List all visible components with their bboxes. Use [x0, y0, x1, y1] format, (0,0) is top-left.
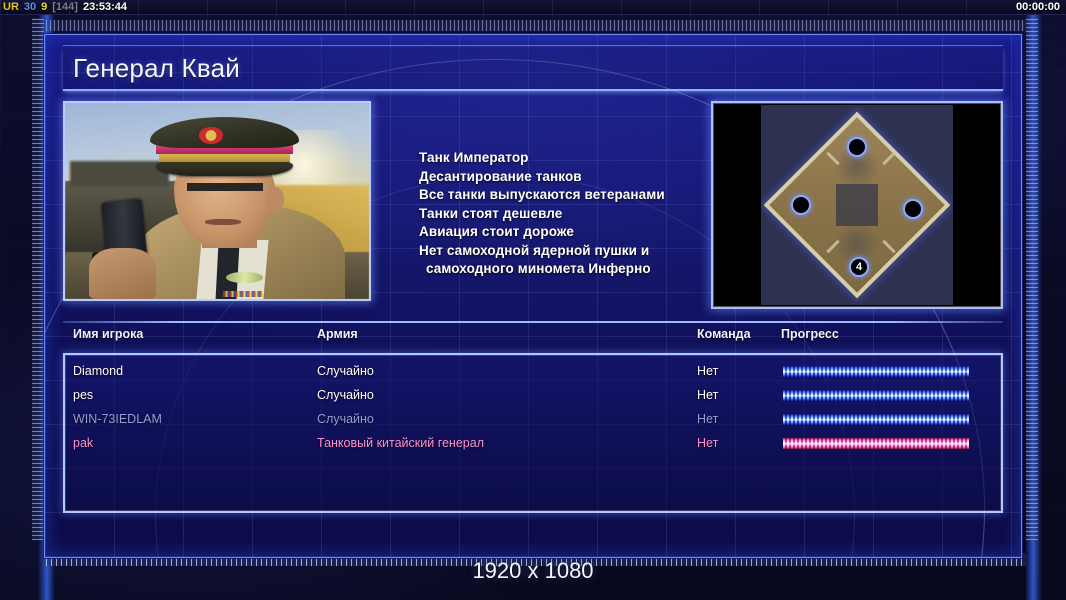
ur-label: UR	[3, 2, 19, 13]
player-progress-bar	[783, 390, 969, 401]
column-header-team: Команда	[697, 327, 751, 341]
general-portrait-frame	[63, 101, 371, 301]
portrait-ear	[266, 187, 284, 211]
players-table-rows: Diamond Случайно Нет pes Случайно Нет	[65, 355, 1001, 455]
column-header-progress: Прогресс	[781, 327, 839, 341]
map-letterbox-left	[715, 105, 761, 305]
table-row[interactable]: WIN-73IEDLAM Случайно Нет	[65, 407, 1001, 431]
fps-value: 30	[24, 2, 36, 13]
portrait-eyes	[187, 183, 263, 191]
frame-cap-value: [144]	[52, 2, 78, 13]
map-start-position[interactable]: 4	[849, 257, 869, 277]
player-progress-bar	[783, 366, 969, 377]
progress-fill	[783, 366, 969, 377]
player-name: pak	[73, 436, 93, 450]
table-row[interactable]: pak Танковый китайский генерал Нет	[65, 431, 1001, 455]
ability-item: Десантирование танков	[419, 168, 711, 186]
column-header-player-name: Имя игрока	[73, 327, 143, 341]
player-army[interactable]: Случайно	[317, 412, 374, 426]
table-row[interactable]: Diamond Случайно Нет	[65, 359, 1001, 383]
player-team[interactable]: Нет	[697, 364, 718, 378]
portrait-hand	[89, 248, 156, 299]
right-ruler-strip	[1026, 18, 1038, 540]
map-preview-inner: 4	[715, 105, 999, 305]
player-progress-bar	[783, 414, 969, 425]
resolution-label: 1920 x 1080	[0, 558, 1066, 584]
ability-item: Авиация стоит дороже	[419, 223, 711, 241]
portrait-medal-ribbon	[223, 291, 263, 297]
general-kwai-portrait	[65, 103, 369, 299]
general-abilities-list: Танк Император Десантирование танков Все…	[371, 101, 711, 309]
ability-item: самоходного миномета Инферно	[419, 260, 711, 278]
lobby-window: Генерал Квай	[44, 34, 1022, 558]
ability-item: Танки стоят дешевле	[419, 205, 711, 223]
player-team[interactable]: Нет	[697, 412, 718, 426]
overlay-stats-group: UR 30 9 [144] 23:53:44	[0, 2, 127, 13]
system-clock: 23:53:44	[83, 2, 127, 13]
game-lobby-screen: UR 30 9 [144] 23:53:44 00:00:00 Генерал …	[0, 0, 1066, 600]
player-name: pes	[73, 388, 93, 402]
left-ruler-strip	[32, 18, 44, 540]
overlay-stats-bar: UR 30 9 [144] 23:53:44 00:00:00	[0, 0, 1066, 15]
match-timer: 00:00:00	[1016, 2, 1066, 13]
map-center-plateau	[836, 184, 878, 226]
table-row[interactable]: pes Случайно Нет	[65, 383, 1001, 407]
player-team[interactable]: Нет	[697, 436, 718, 450]
map-preview[interactable]: 4	[711, 101, 1003, 309]
taskbar-grid	[0, 0, 1066, 14]
ability-item: Нет самоходной ядерной пушки и	[419, 242, 711, 260]
portrait-cap-emblem	[199, 127, 223, 145]
player-army[interactable]: Случайно	[317, 388, 374, 402]
page-title: Генерал Квай	[63, 53, 240, 84]
top-ruler-strip	[46, 20, 1026, 31]
players-table: Diamond Случайно Нет pes Случайно Нет	[63, 353, 1003, 513]
map-start-position[interactable]	[791, 195, 811, 215]
portrait-cap-crown	[150, 117, 299, 148]
progress-fill	[783, 438, 969, 449]
player-progress-bar	[783, 438, 969, 449]
map-letterbox-right	[953, 105, 999, 305]
general-info-row: Танк Император Десантирование танков Все…	[63, 101, 1003, 309]
map-start-position[interactable]	[903, 199, 923, 219]
player-team[interactable]: Нет	[697, 388, 718, 402]
ping-value: 9	[41, 2, 47, 13]
player-name: WIN-73IEDLAM	[73, 412, 162, 426]
player-army[interactable]: Танковый китайский генерал	[317, 436, 484, 450]
progress-fill	[783, 414, 969, 425]
portrait-wing-insignia	[226, 272, 262, 284]
progress-fill	[783, 390, 969, 401]
column-header-army: Армия	[317, 327, 358, 341]
map-start-position[interactable]	[847, 137, 867, 157]
player-army[interactable]: Случайно	[317, 364, 374, 378]
player-name: Diamond	[73, 364, 123, 378]
ability-item: Танк Император	[419, 149, 711, 167]
map-canvas: 4	[757, 105, 957, 305]
portrait-mouth	[205, 219, 241, 225]
ability-item: Все танки выпускаются ветеранами	[419, 186, 711, 204]
section-divider	[63, 321, 1003, 323]
players-table-header: Имя игрока Армия Команда Прогресс	[63, 327, 1003, 349]
title-bar: Генерал Квай	[63, 47, 1003, 91]
